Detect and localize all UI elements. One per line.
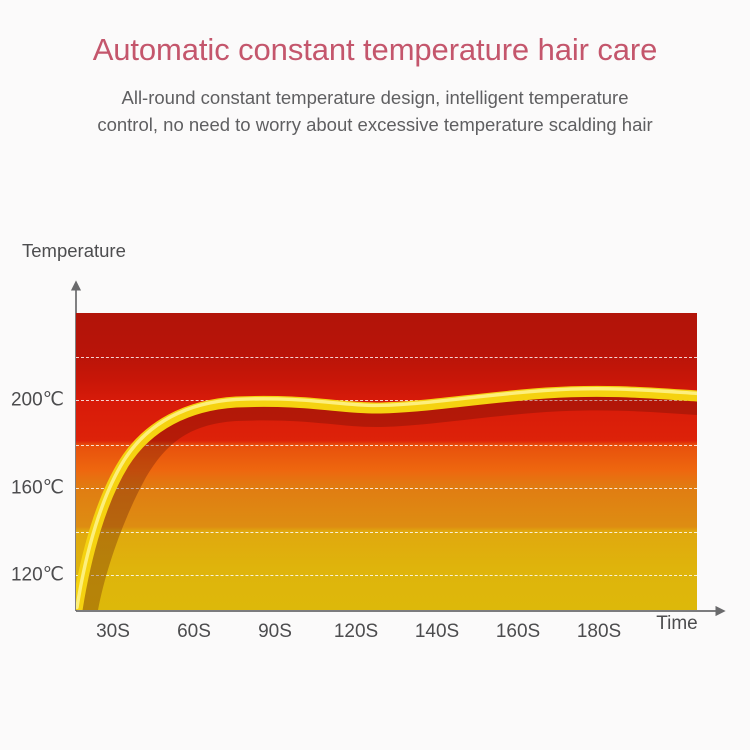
temperature-chart: Temperature 200℃ 160℃ 120℃ 3 [0,240,750,660]
page-subtitle: All-round constant temperature design, i… [0,84,750,138]
x-tick-label-30s: 30S [96,621,130,643]
x-tick-label-60s: 60S [177,621,211,643]
page-title: Automatic constant temperature hair care [0,34,750,65]
y-tick-label-160: 160℃ [11,477,64,500]
y-axis-title: Temperature [22,240,126,262]
header-block: Automatic constant temperature hair care… [0,0,750,138]
x-axis-title: Time [656,613,698,635]
subtitle-line-2: control, no need to worry about excessiv… [36,111,714,138]
x-tick-label-120s: 120S [334,621,378,643]
chart-plot-area [76,313,697,610]
y-tick-label-120: 120℃ [11,564,64,587]
x-tick-label-180s: 180S [577,621,621,643]
y-tick-label-200: 200℃ [11,389,64,412]
x-tick-label-140s: 140S [415,621,459,643]
x-tick-label-160s: 160S [496,621,540,643]
subtitle-line-1: All-round constant temperature design, i… [36,84,714,111]
temperature-curve [76,313,697,610]
x-tick-label-90s: 90S [258,621,292,643]
